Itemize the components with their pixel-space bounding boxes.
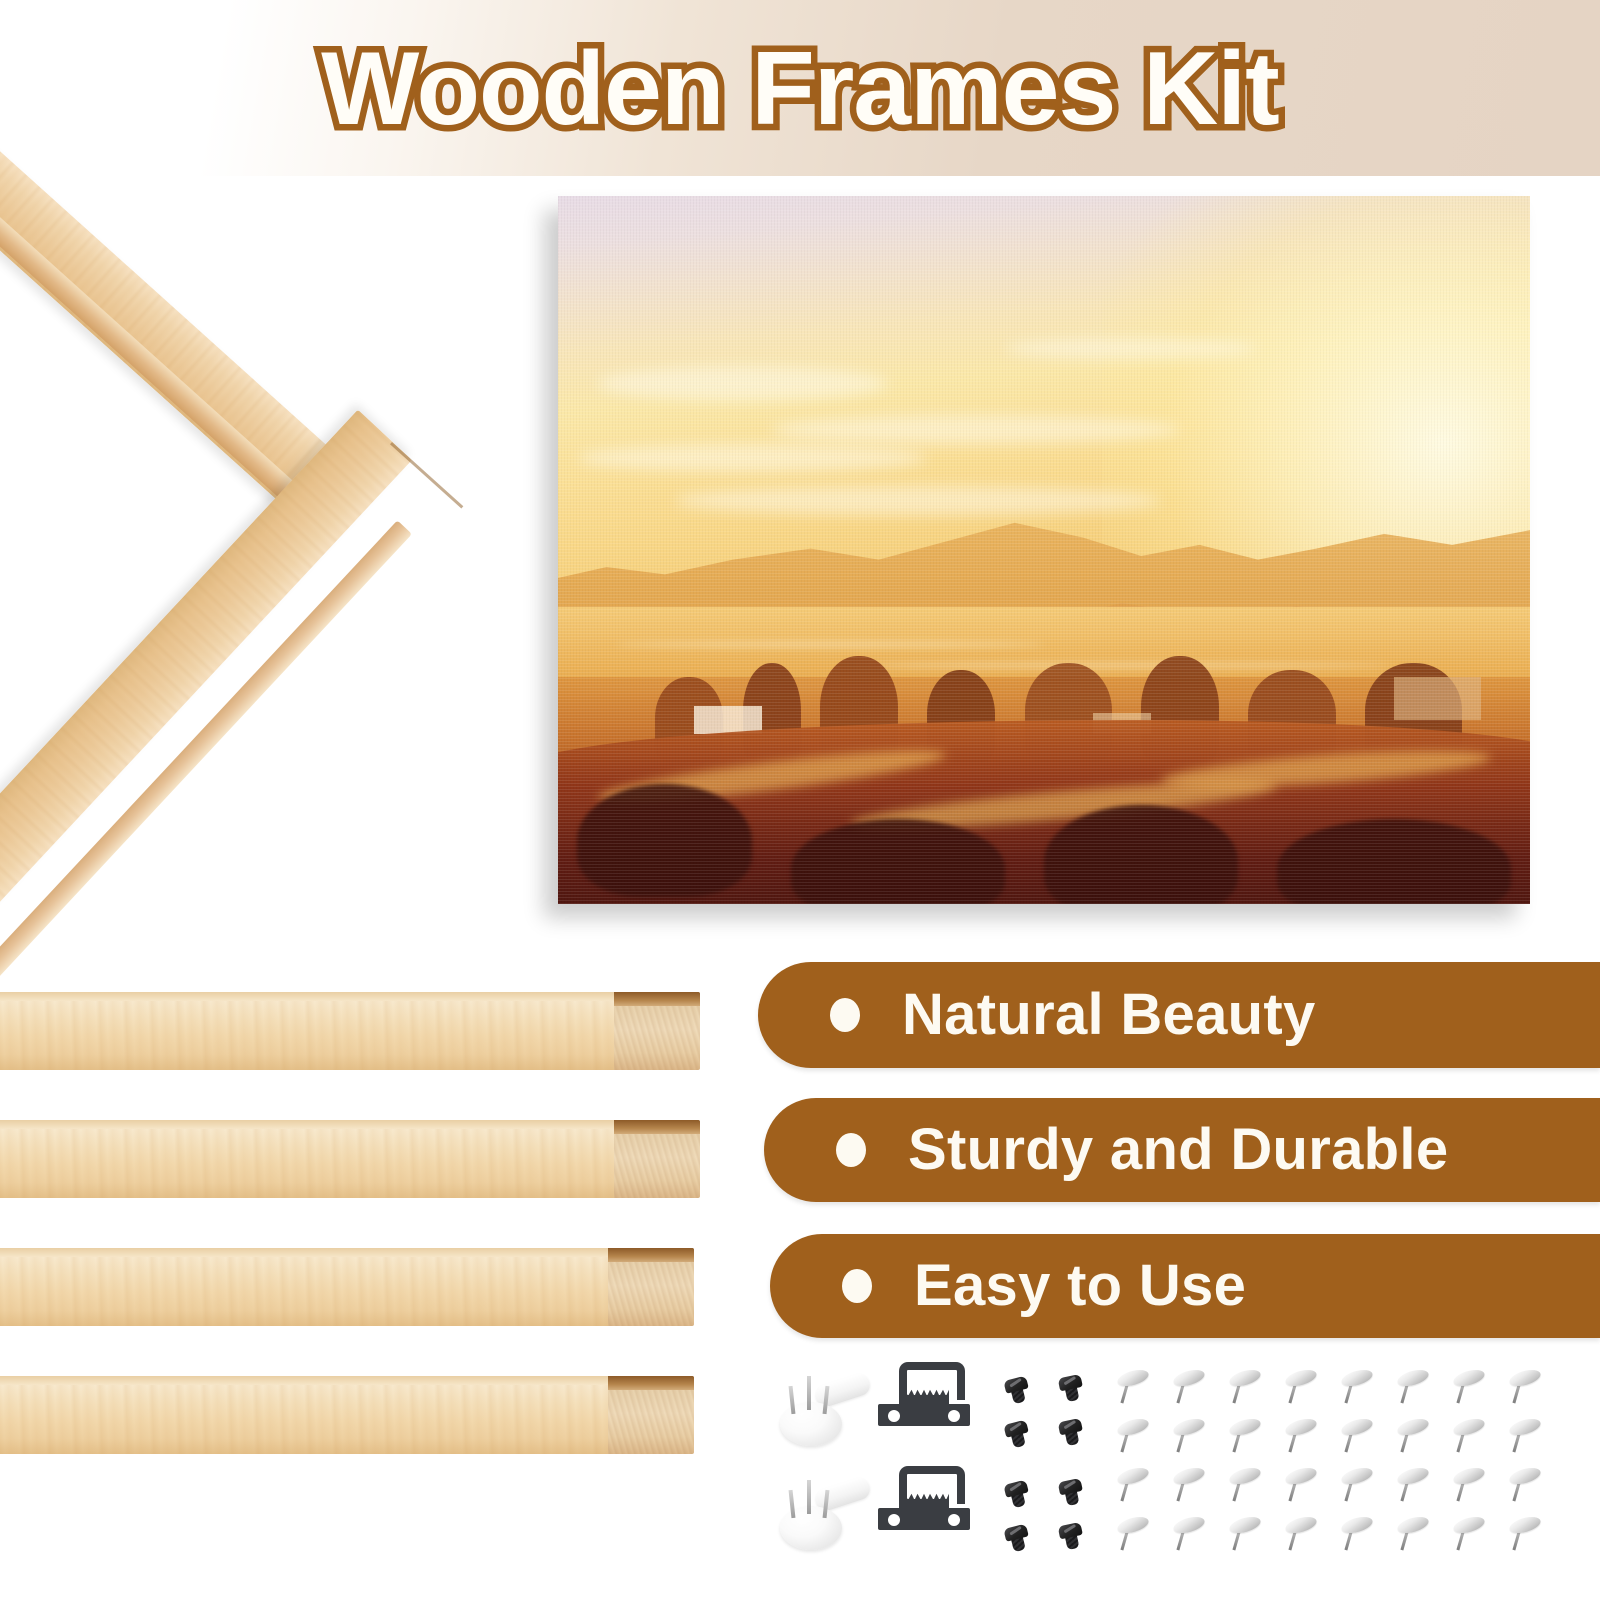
picture-nail-icon — [1284, 1419, 1318, 1453]
feature-label: Easy to Use — [914, 1257, 1246, 1315]
sawtooth-hanger-icon — [878, 1362, 970, 1436]
picture-nail-icon — [1508, 1517, 1542, 1551]
screw-head — [1003, 1420, 1028, 1438]
wall-hook-disc — [780, 1402, 842, 1446]
sawtooth-hanger-screw-hole — [888, 1514, 900, 1526]
canvas-foreground-bush — [577, 784, 752, 897]
picture-nail-icon — [1172, 1419, 1206, 1453]
screw-head — [1003, 1376, 1028, 1394]
picture-nail-head — [1508, 1416, 1543, 1438]
picture-nail-icon — [1284, 1370, 1318, 1404]
screw-head — [1003, 1480, 1028, 1498]
picture-nail-head — [1228, 1514, 1263, 1536]
stretcher-bar-body — [0, 1248, 608, 1326]
feature-pill-sturdy-and-durable[interactable]: Sturdy and Durable — [764, 1098, 1600, 1202]
picture-nail-head — [1172, 1367, 1207, 1389]
picture-nail-icon — [1228, 1370, 1262, 1404]
picture-nail-head — [1340, 1416, 1375, 1438]
picture-nail-head — [1284, 1465, 1319, 1487]
picture-nail-icon — [1116, 1468, 1150, 1502]
picture-nail-icon — [1452, 1370, 1486, 1404]
bullet-dot-icon — [842, 1269, 872, 1303]
picture-nail-head — [1340, 1367, 1375, 1389]
feature-label: Sturdy and Durable — [908, 1121, 1448, 1179]
screw-head — [1058, 1478, 1083, 1495]
stretcher-bar-cut-end — [608, 1248, 694, 1262]
wall-hook-icon — [776, 1366, 872, 1452]
hardware-accessories-group — [760, 1360, 1600, 1590]
picture-nail-icon — [1116, 1370, 1150, 1404]
picture-nail-icon — [1228, 1419, 1262, 1453]
picture-nail-head — [1396, 1514, 1431, 1536]
picture-nail-icon — [1228, 1468, 1262, 1502]
stretcher-bar-cut-end — [614, 1120, 700, 1134]
picture-nail-icon — [1340, 1419, 1374, 1453]
picture-nail-icon — [1228, 1517, 1262, 1551]
screw-icon — [1058, 1374, 1086, 1403]
picture-nail-icon — [1396, 1517, 1430, 1551]
sawtooth-hanger-icon — [878, 1466, 970, 1540]
picture-nail-head — [1452, 1465, 1487, 1487]
picture-nail-icon — [1172, 1468, 1206, 1502]
wall-hook-disc — [780, 1506, 842, 1550]
picture-nail-head — [1340, 1465, 1375, 1487]
stretcher-bar — [0, 1120, 700, 1198]
screw-head — [1058, 1522, 1083, 1539]
picture-nail-icon — [1452, 1517, 1486, 1551]
stretcher-bar-body — [0, 1120, 614, 1198]
picture-nail-head — [1228, 1465, 1263, 1487]
feature-label: Natural Beauty — [902, 986, 1316, 1044]
stretcher-bar — [0, 1376, 694, 1454]
picture-nail-head — [1340, 1514, 1375, 1536]
wall-hook-icon — [776, 1470, 872, 1556]
picture-nail-head — [1228, 1367, 1263, 1389]
picture-nail-head — [1508, 1367, 1543, 1389]
picture-nail-icon — [1452, 1468, 1486, 1502]
stretcher-bar-top-edge — [0, 1248, 608, 1257]
picture-nail-icon — [1340, 1468, 1374, 1502]
bullet-dot-icon — [836, 1133, 866, 1167]
screw-icon — [1058, 1478, 1086, 1507]
canvas-cloud — [577, 444, 927, 472]
picture-nail-icon — [1116, 1419, 1150, 1453]
picture-nail-icon — [1116, 1517, 1150, 1551]
canvas-cloud — [675, 486, 1161, 514]
picture-nail-head — [1228, 1416, 1263, 1438]
stretcher-bar — [0, 1248, 694, 1326]
stretcher-bar-cut-end — [608, 1376, 694, 1390]
picture-nail-head — [1172, 1514, 1207, 1536]
canvas-cloud — [1005, 338, 1258, 359]
stretcher-bar — [0, 992, 700, 1070]
canvas-building — [1394, 677, 1481, 719]
picture-nail-icon — [1396, 1370, 1430, 1404]
picture-nail-grid — [1116, 1360, 1596, 1570]
picture-nail-head — [1172, 1465, 1207, 1487]
picture-nail-icon — [1508, 1419, 1542, 1453]
picture-nail-head — [1452, 1514, 1487, 1536]
picture-nail-head — [1172, 1416, 1207, 1438]
screw-head — [1058, 1374, 1083, 1391]
stretcher-bar-top-edge — [0, 992, 614, 1001]
screw-icon — [1058, 1522, 1086, 1551]
screw-icon — [1003, 1480, 1031, 1510]
bullet-dot-icon — [830, 998, 860, 1032]
canvas-print — [558, 196, 1530, 904]
canvas-cloud — [597, 366, 889, 401]
picture-nail-icon — [1340, 1517, 1374, 1551]
picture-nail-head — [1116, 1514, 1151, 1536]
canvas-cloud — [772, 415, 1180, 443]
picture-nail-head — [1452, 1367, 1487, 1389]
picture-nail-head — [1396, 1465, 1431, 1487]
picture-nail-head — [1396, 1367, 1431, 1389]
picture-nail-icon — [1396, 1419, 1430, 1453]
feature-pill-natural-beauty[interactable]: Natural Beauty — [758, 962, 1600, 1068]
picture-nail-icon — [1172, 1370, 1206, 1404]
picture-nail-head — [1452, 1416, 1487, 1438]
frame-moulding-upper-leg — [0, 0, 330, 503]
picture-nail-head — [1284, 1514, 1319, 1536]
picture-nail-head — [1508, 1514, 1543, 1536]
stretcher-bar-top-edge — [0, 1376, 608, 1385]
sawtooth-hanger-screw-hole — [948, 1410, 960, 1422]
picture-nail-icon — [1284, 1517, 1318, 1551]
picture-nail-head — [1284, 1367, 1319, 1389]
picture-nail-head — [1116, 1465, 1151, 1487]
wall-hook-pin — [807, 1376, 811, 1410]
stretcher-bar-body — [0, 1376, 608, 1454]
picture-nail-icon — [1508, 1370, 1542, 1404]
stretcher-bar-top-edge — [0, 1120, 614, 1129]
screw-icon — [1003, 1524, 1031, 1554]
picture-nail-icon — [1396, 1468, 1430, 1502]
stretcher-bar-cut-end — [614, 992, 700, 1006]
feature-pill-easy-to-use[interactable]: Easy to Use — [770, 1234, 1600, 1338]
sawtooth-hanger-screw-hole — [948, 1514, 960, 1526]
screw-icon — [1003, 1376, 1031, 1406]
picture-nail-icon — [1284, 1468, 1318, 1502]
picture-nail-icon — [1172, 1517, 1206, 1551]
wall-hook-pin — [807, 1480, 811, 1514]
screw-head — [1003, 1524, 1028, 1542]
picture-nail-head — [1116, 1367, 1151, 1389]
picture-nail-icon — [1508, 1468, 1542, 1502]
canvas-haze-streak — [616, 642, 1044, 647]
sawtooth-hanger-screw-hole — [888, 1410, 900, 1422]
screw-icon — [1058, 1418, 1086, 1447]
picture-nail-head — [1396, 1416, 1431, 1438]
frame-corner-illustration — [0, 0, 560, 890]
screw-icon — [1003, 1420, 1031, 1450]
picture-nail-head — [1284, 1416, 1319, 1438]
screw-head — [1058, 1418, 1083, 1435]
miter-joint-seam — [390, 442, 463, 508]
picture-nail-icon — [1452, 1419, 1486, 1453]
picture-nail-icon — [1340, 1370, 1374, 1404]
stretcher-bar-body — [0, 992, 614, 1070]
picture-nail-head — [1116, 1416, 1151, 1438]
picture-nail-head — [1508, 1465, 1543, 1487]
